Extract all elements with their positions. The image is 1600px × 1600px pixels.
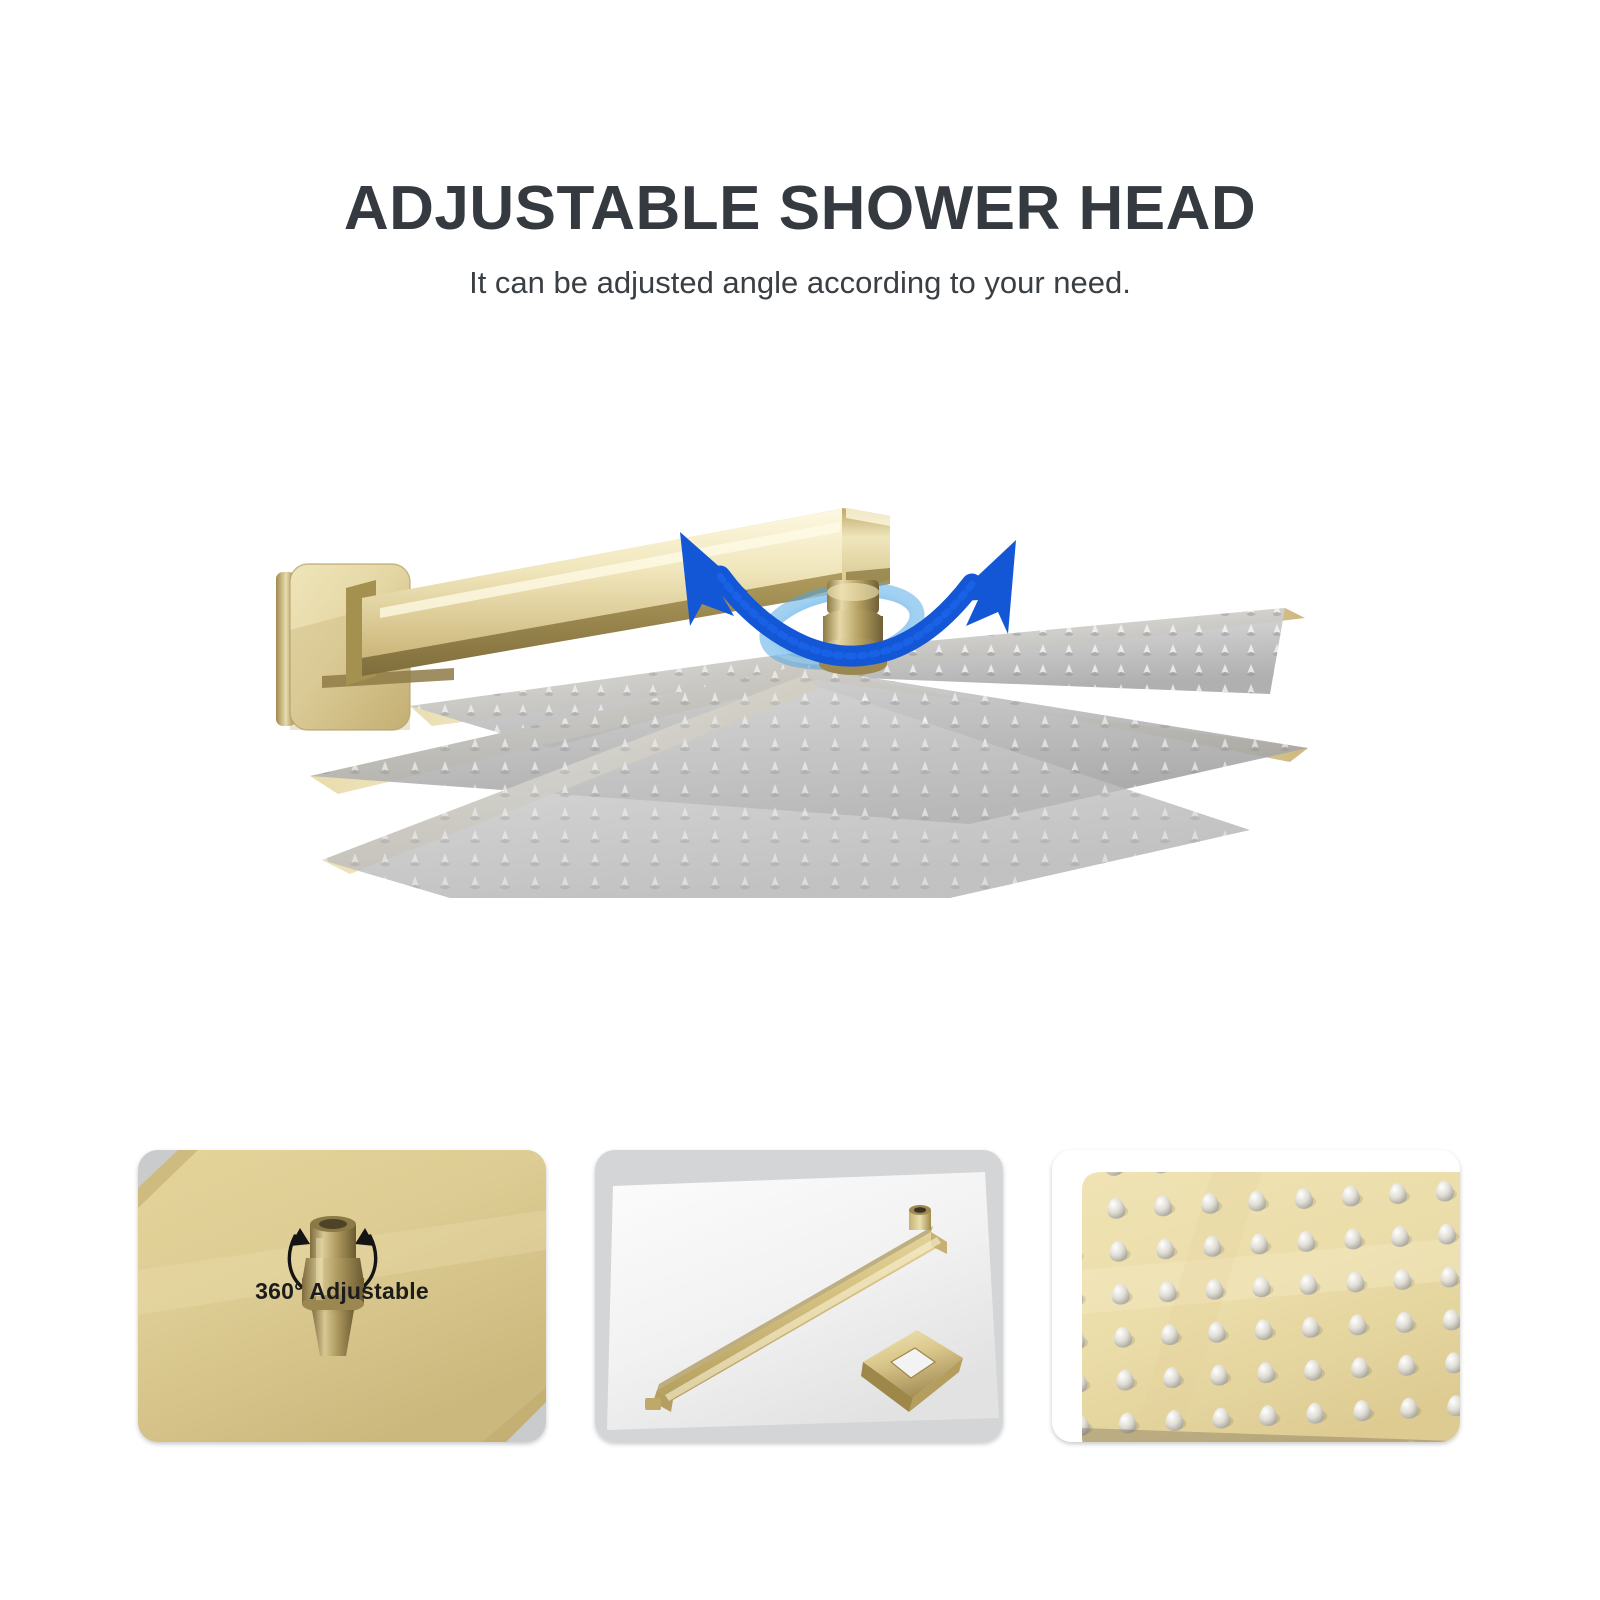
nozzle-grid	[1082, 1172, 1460, 1442]
card-shower-arm-and-flange[interactable]	[595, 1150, 1003, 1442]
arm-inlet-spigot	[909, 1205, 931, 1230]
card-360-adjustable[interactable]: 360° Adjustable	[138, 1150, 546, 1442]
hero-product-image	[250, 480, 1360, 900]
page-title: ADJUSTABLE SHOWER HEAD	[0, 178, 1600, 240]
header: ADJUSTABLE SHOWER HEAD It can be adjuste…	[0, 178, 1600, 300]
card-nozzle-closeup[interactable]	[1052, 1150, 1460, 1442]
product-feature-page: ADJUSTABLE SHOWER HEAD It can be adjuste…	[0, 0, 1600, 1600]
page-subtitle: It can be adjusted angle according to yo…	[0, 266, 1600, 300]
feature-thumbnail-row: 360° Adjustable	[138, 1150, 1460, 1442]
